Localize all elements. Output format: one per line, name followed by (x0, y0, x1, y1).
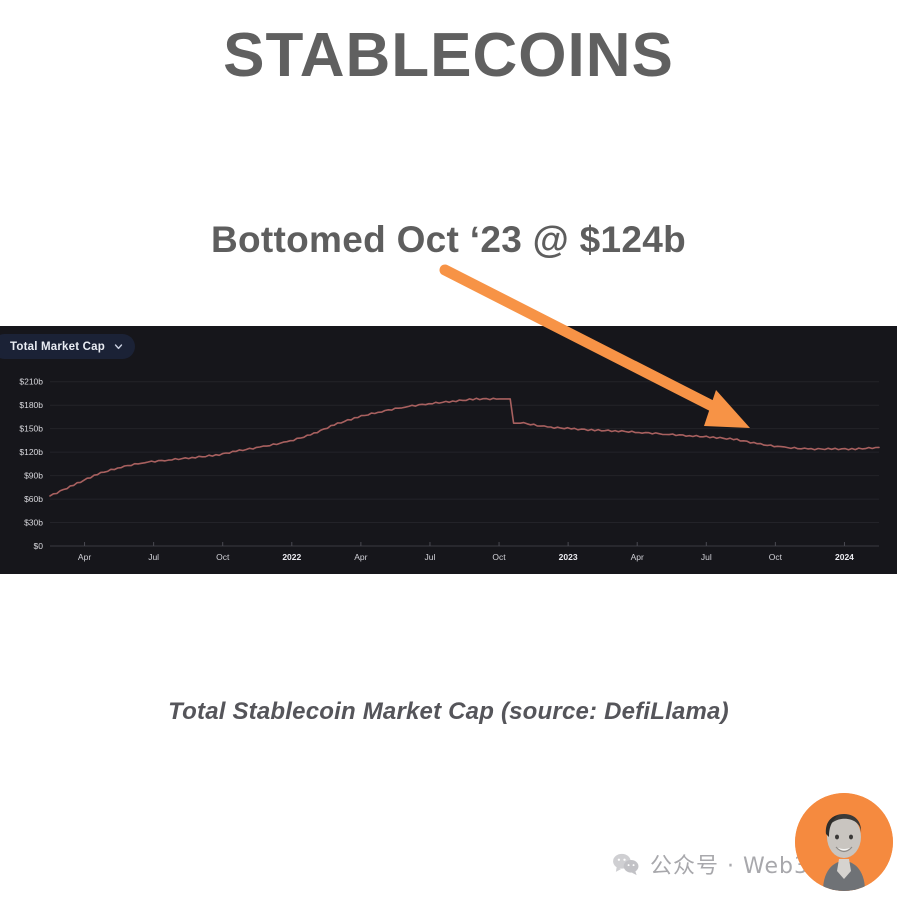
x-axis-tick: Oct (769, 552, 783, 562)
y-axis-tick: $30b (24, 518, 43, 528)
page-title: STABLECOINS (0, 22, 897, 90)
market-cap-line-chart: $0$30b$60b$90b$120b$150b$180b$210bAprJul… (0, 326, 897, 574)
x-axis-tick: Oct (492, 552, 506, 562)
x-axis-tick: Jul (148, 552, 159, 562)
chart-caption: Total Stablecoin Market Cap (source: Def… (0, 698, 897, 726)
chevron-down-icon (114, 342, 123, 351)
chart-panel: Total Market Cap DefiLlama $0$30b$60b$90… (0, 326, 897, 574)
x-axis-tick: Apr (631, 552, 644, 562)
x-axis-tick: Apr (354, 552, 367, 562)
x-axis-tick: Apr (78, 552, 91, 562)
y-axis-tick: $120b (19, 447, 43, 457)
x-axis-tick: 2022 (282, 552, 301, 562)
metric-dropdown[interactable]: Total Market Cap (0, 334, 135, 359)
y-axis-tick: $210b (19, 377, 43, 387)
x-axis-tick: 2023 (559, 552, 578, 562)
x-axis-tick: Oct (216, 552, 230, 562)
market-cap-series-line (50, 398, 879, 496)
profile-avatar (795, 793, 893, 891)
y-axis-tick: $90b (24, 471, 43, 481)
wechat-icon (612, 852, 640, 876)
x-axis-tick: Jul (701, 552, 712, 562)
y-axis-tick: $180b (19, 400, 43, 410)
y-axis-tick: $0 (34, 541, 44, 551)
x-axis-tick: 2024 (835, 552, 854, 562)
y-axis-tick: $60b (24, 494, 43, 504)
avatar-portrait (795, 793, 893, 891)
annotation-callout: Bottomed Oct ‘23 @ $124b (0, 219, 897, 261)
metric-dropdown-label: Total Market Cap (10, 341, 105, 353)
x-axis-tick: Jul (425, 552, 436, 562)
y-axis-tick: $150b (19, 424, 43, 434)
